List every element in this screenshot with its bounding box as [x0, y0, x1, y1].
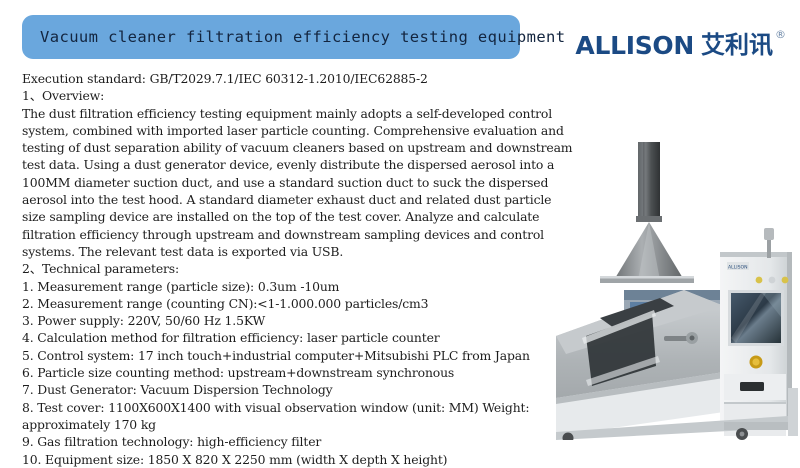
parameter-item: 7. Dust Generator: Vacuum Dispersion Tec…: [22, 381, 634, 398]
parameter-item: 9. Gas filtration technology: high-effic…: [22, 433, 634, 450]
overview-paragraph: The dust filtration efficiency testing e…: [22, 105, 634, 261]
indicator-lamp: [756, 277, 763, 284]
equipment-photo: ALLISON: [556, 140, 800, 440]
specification-text: Execution standard: GB/T2029.7.1/IEC 603…: [22, 70, 634, 468]
indicator-lamp: [782, 277, 789, 284]
parameter-item: 5. Control system: 17 inch touch+industr…: [22, 347, 634, 364]
overview-heading: 1、Overview:: [22, 87, 634, 104]
registered-trademark-icon: ®: [775, 29, 786, 40]
parameter-item: 3. Power supply: 220V, 50/60 Hz 1.5KW: [22, 312, 634, 329]
logo-latin-text: ALLISON: [575, 33, 694, 58]
indicator-lamp: [769, 277, 776, 284]
cabinet-brand-label: ALLISON: [728, 265, 748, 271]
control-cabinet: ALLISON: [720, 252, 792, 436]
brand-logo: ALLISON 艾利讯 ®: [575, 33, 786, 58]
technical-parameters-heading: 2、Technical parameters:: [22, 260, 634, 277]
test-hood: [556, 290, 724, 436]
page-title: Vacuum cleaner filtration efficiency tes…: [22, 28, 566, 46]
drawer-handle: [740, 382, 764, 391]
title-banner: Vacuum cleaner filtration efficiency tes…: [22, 15, 520, 59]
parameter-item: 1. Measurement range (particle size): 0.…: [22, 278, 634, 295]
parameter-item: 2. Measurement range (counting CN):<1-1.…: [22, 295, 634, 312]
parameter-item: 6. Particle size counting method: upstre…: [22, 364, 634, 381]
parameter-item: 8. Test cover: 1100X600X1400 with visual…: [22, 399, 634, 434]
execution-standard-line: Execution standard: GB/T2029.7.1/IEC 603…: [22, 70, 634, 87]
exhaust-duct: [636, 142, 662, 222]
parameter-item: 4. Calculation method for filtration eff…: [22, 329, 634, 346]
dust-hopper: [600, 222, 694, 283]
parameter-item: 10. Equipment size: 1850 X 820 X 2250 mm…: [22, 451, 634, 468]
logo-chinese-text: 艾利讯: [701, 33, 773, 57]
